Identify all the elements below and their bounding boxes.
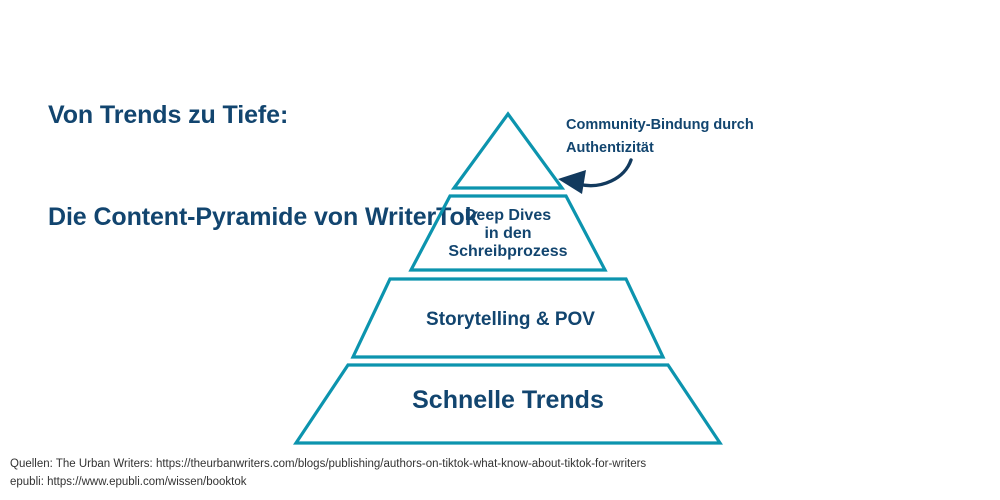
pyramid-tier-3-label: Storytelling & POV [358,309,663,330]
pyramid-tier-2-label: Deep Dives in den Schreibprozess [408,207,608,261]
sources-footnote: Quellen: The Urban Writers: https://theu… [10,455,646,492]
source-line-1: Quellen: The Urban Writers: https://theu… [10,455,646,473]
slide-canvas: Von Trends zu Tiefe: Die Content-Pyramid… [0,0,1000,500]
source-line-2: epubli: https://www.epubli.com/wissen/bo… [10,473,646,491]
annotation-callout-text: Community-Bindung durch Authentizität [566,114,826,161]
pyramid-tier-4-label: Schnelle Trends [296,386,720,414]
pyramid-tier-1-shape[interactable] [454,114,562,188]
curved-arrow-left-icon [558,160,631,194]
